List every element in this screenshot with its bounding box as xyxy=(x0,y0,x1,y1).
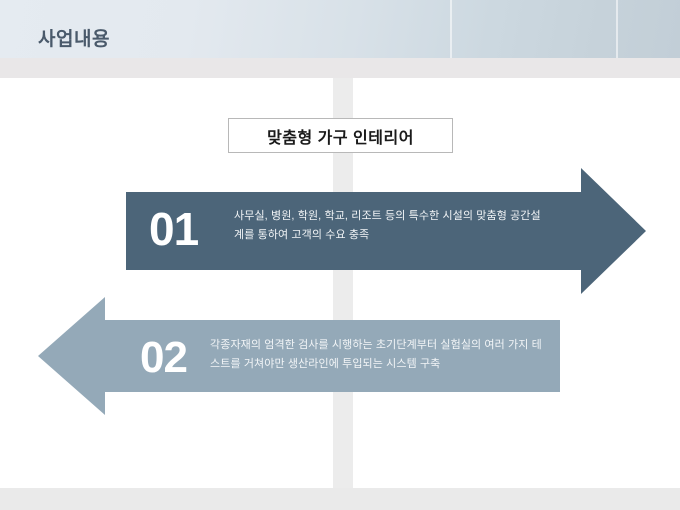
header-bottom-band xyxy=(0,58,680,78)
section-title-text: 맞춤형 가구 인테리어 xyxy=(267,124,414,148)
page-title: 사업내용 xyxy=(38,24,110,51)
slide: 사업내용 맞춤형 가구 인테리어 01 사무실, 병원, 학원, 학교, 리조트… xyxy=(0,0,680,510)
arrow-description-02: 각종자재의 엄격한 검사를 시행하는 초기단계부터 실험실의 여러 가지 테스트… xyxy=(210,336,546,375)
section-title-box: 맞춤형 가구 인테리어 xyxy=(228,118,453,153)
arrow-description-01: 사무실, 병원, 학원, 학교, 리조트 등의 특수한 시설의 맞춤형 공간설계… xyxy=(234,207,546,246)
header-divider-line-1 xyxy=(450,0,452,58)
arrow-number-01: 01 xyxy=(149,206,198,252)
header-divider-line-2 xyxy=(616,0,618,58)
footer-band xyxy=(0,488,680,510)
arrow-number-02: 02 xyxy=(140,336,187,380)
